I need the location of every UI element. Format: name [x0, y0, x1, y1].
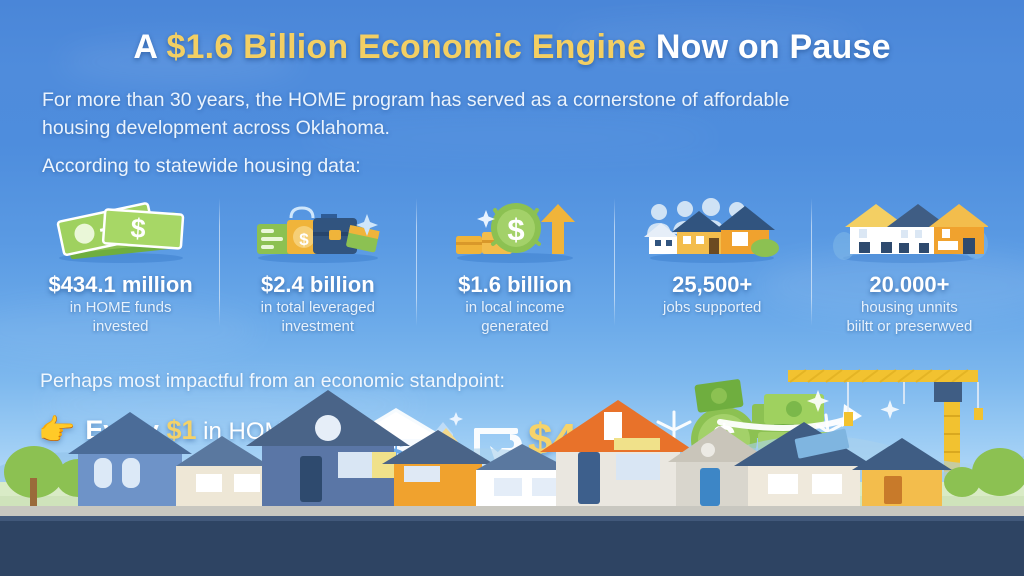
stat-item: $ $2.4 billion in total leveraged invest…: [219, 192, 416, 336]
cash-stack-icon: $: [28, 192, 213, 264]
infographic-canvas: A $1.6 Billion Economic Engine Now on Pa…: [0, 0, 1024, 576]
three-houses-icon: [817, 192, 1002, 264]
intro-paragraph: For more than 30 years, the HOME program…: [42, 86, 862, 142]
stat-value: 25,500+: [620, 272, 805, 298]
svg-text:$: $: [507, 212, 524, 247]
stat-value: $2.4 billion: [225, 272, 410, 298]
stat-label-line1: housing unnits: [817, 298, 1002, 317]
stat-label-line2: biiltt or preserwved: [817, 317, 1002, 336]
stat-label-line1: in HOME funds: [28, 298, 213, 317]
coin-growth-arrow-icon: $: [422, 192, 607, 264]
stat-label-line1: in total leveraged: [225, 298, 410, 317]
stat-label-line2: generated: [422, 317, 607, 336]
headline-after: Now on Pause: [646, 28, 890, 66]
neighborhood-scene: [0, 346, 1024, 576]
stat-value: $1.6 billion: [422, 272, 607, 298]
stat-item: 25,500+ jobs supported: [614, 192, 811, 317]
people-houses-icon: [620, 192, 805, 264]
statistics-strip: $ $434.1 million in HOME funds invested: [22, 192, 1008, 340]
headline-highlight: $1.6 Billion Economic Engine: [166, 28, 646, 66]
svg-text:$: $: [299, 230, 309, 249]
stat-item: $ $1.6 billion in local income generated: [416, 192, 613, 336]
stat-label-line1: jobs supported: [620, 298, 805, 317]
stat-label-line2: invested: [28, 317, 213, 336]
stat-value: 20.000+: [817, 272, 1002, 298]
stat-item: 20.000+ housing unnits biiltt or preserw…: [811, 192, 1008, 336]
stat-value: $434.1 million: [28, 272, 213, 298]
page-title: A $1.6 Billion Economic Engine Now on Pa…: [0, 28, 1024, 67]
stat-label-line2: investment: [225, 317, 410, 336]
stats-kicker: According to statewide housing data:: [42, 155, 361, 178]
briefcase-money-icon: $: [225, 192, 410, 264]
headline-before: A: [133, 28, 166, 66]
stat-label-line1: in local income: [422, 298, 607, 317]
svg-text:$: $: [129, 213, 146, 244]
stat-item: $ $434.1 million in HOME funds invested: [22, 192, 219, 336]
